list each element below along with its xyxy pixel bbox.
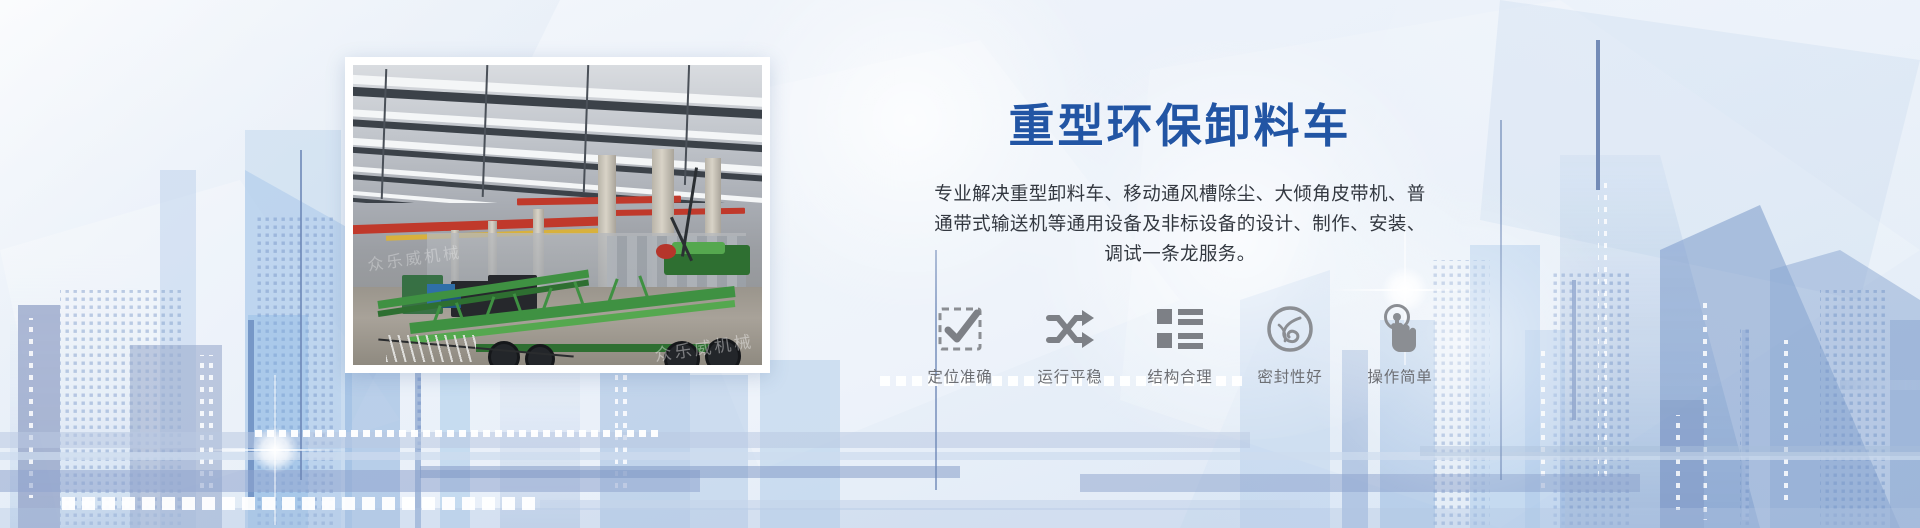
banner-title: 重型环保卸料车: [820, 100, 1540, 153]
hand-tap-icon: [1374, 303, 1426, 355]
description-line-2: 通带式输送机等通用设备及非标设备的设计、制作、安装、: [820, 209, 1540, 239]
feature-list: 定位准确 运行平稳: [820, 303, 1540, 387]
product-photo: 众乐威机械 众乐威机械: [353, 65, 762, 365]
dot-strip-left: [255, 430, 658, 437]
feature-item-smooth-operation[interactable]: 运行平稳: [1026, 303, 1114, 387]
product-photo-frame[interactable]: 众乐威机械 众乐威机械: [345, 57, 770, 373]
feature-item-sealing[interactable]: 密封性好: [1246, 303, 1334, 387]
dashed-box-check-icon: [934, 303, 986, 355]
hero-banner: 众乐威机械 众乐威机械 重型环保卸料车 专业解决重型卸料车、移动通风槽除尘、大倾…: [0, 0, 1920, 528]
dot-strip-bottom-left: [62, 497, 535, 510]
feature-item-easy-operation[interactable]: 操作简单: [1356, 303, 1444, 387]
feature-label: 操作简单: [1367, 365, 1432, 387]
shuffle-arrows-icon: [1044, 303, 1096, 355]
feature-label: 定位准确: [927, 365, 992, 387]
description-line-1: 专业解决重型卸料车、移动通风槽除尘、大倾角皮带机、普: [820, 179, 1540, 209]
feature-label: 结构合理: [1147, 365, 1212, 387]
feature-item-structure[interactable]: 结构合理: [1136, 303, 1224, 387]
feature-label: 运行平稳: [1037, 365, 1102, 387]
banner-content: 重型环保卸料车 专业解决重型卸料车、移动通风槽除尘、大倾角皮带机、普 通带式输送…: [820, 100, 1540, 387]
block-list-icon: [1154, 303, 1206, 355]
feature-item-positioning[interactable]: 定位准确: [916, 303, 1004, 387]
seal-swirl-icon: [1264, 303, 1316, 355]
feature-label: 密封性好: [1257, 365, 1322, 387]
banner-description: 专业解决重型卸料车、移动通风槽除尘、大倾角皮带机、普 通带式输送机等通用设备及非…: [820, 179, 1540, 269]
factory-roof: [353, 65, 762, 203]
description-line-3: 调试一条龙服务。: [820, 239, 1540, 269]
